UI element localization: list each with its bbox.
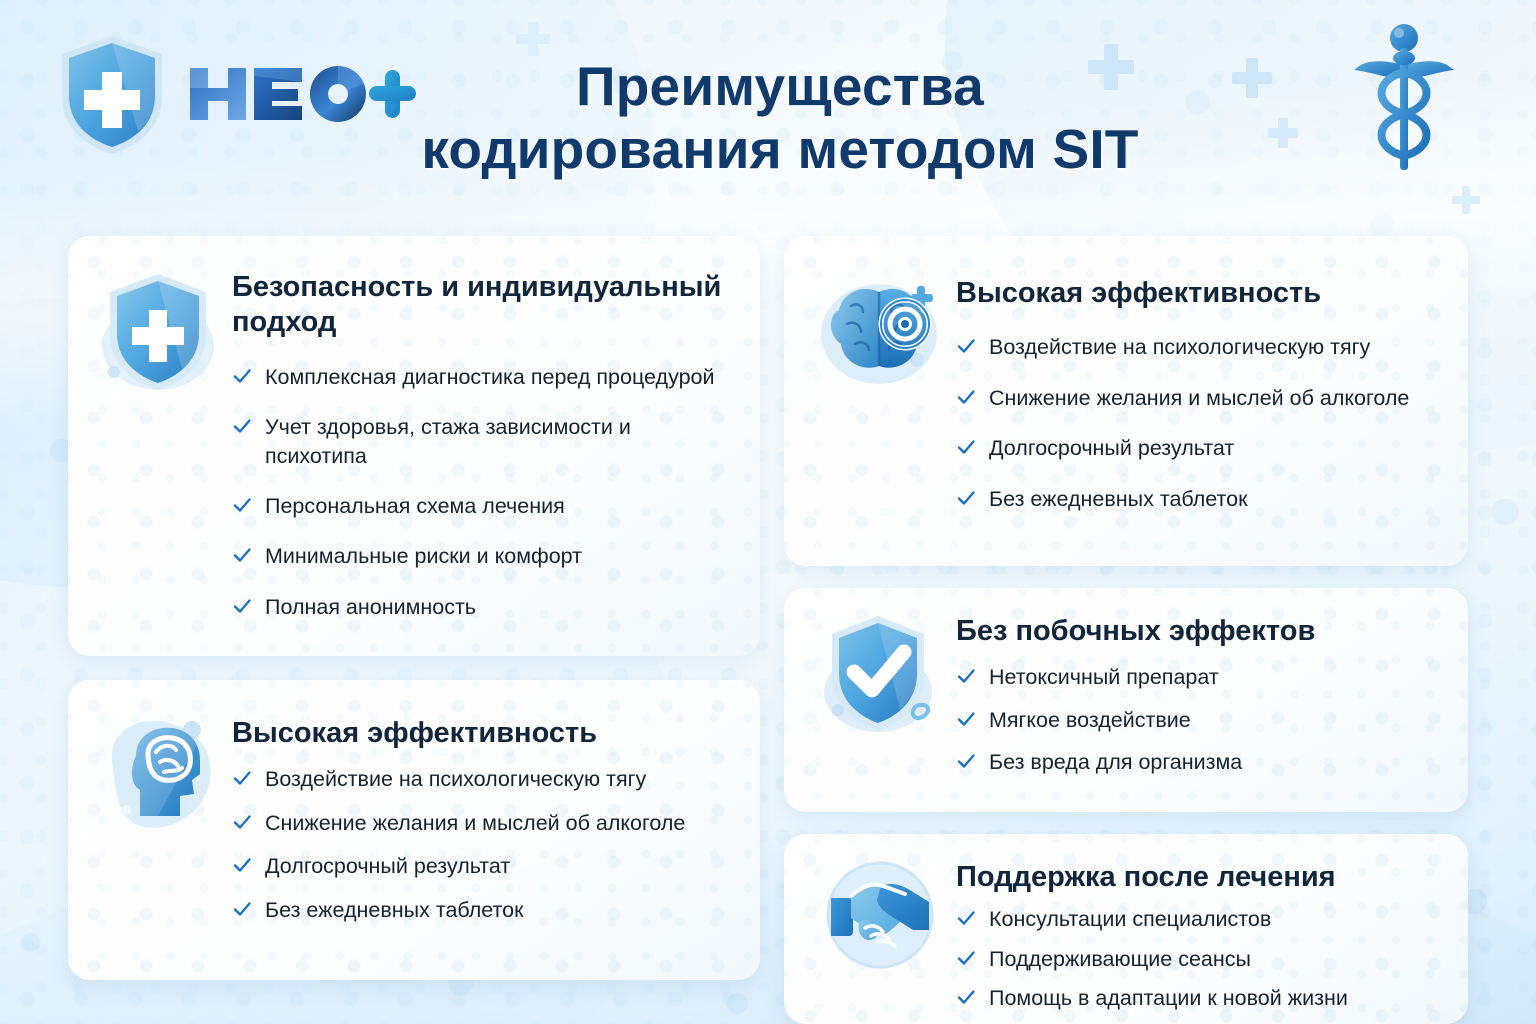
card-icon-wrapper: [810, 272, 950, 540]
caduceus-icon: [1350, 22, 1458, 172]
card-efficiency-left: Высокая эффективность Воздействие на пси…: [68, 680, 760, 980]
card-title: Высокая эффективность: [232, 716, 730, 751]
list-item: Учет здоровья, стажа зависимости и психо…: [232, 413, 730, 470]
check-icon: [232, 809, 252, 835]
bullet-list: Воздействие на психологическую тягу Сниж…: [956, 333, 1438, 513]
check-icon: [956, 485, 976, 511]
card-body: Высокая эффективность Воздействие на пси…: [232, 712, 730, 954]
check-icon: [956, 384, 976, 410]
list-item: Долгосрочный результат: [956, 434, 1438, 462]
list-item-text: Воздействие на психологическую тягу: [265, 765, 730, 793]
bullet-list: Комплексная диагностика перед процедурой…: [232, 363, 730, 621]
check-icon: [956, 434, 976, 460]
check-icon: [232, 363, 252, 389]
list-item-text: Мягкое воздействие: [989, 706, 1438, 734]
infographic-poster: Преимущества кодирования методом SIT: [0, 0, 1536, 1024]
check-icon: [956, 945, 976, 971]
check-icon: [232, 542, 252, 568]
card-icon-wrapper: [94, 266, 226, 630]
card-body: Высокая эффективность Воздействие на пси…: [956, 272, 1438, 540]
card-no-side-effects: Без побочных эффектов Нетоксичный препар…: [784, 588, 1468, 812]
check-icon: [232, 413, 252, 439]
page-title: Преимущества кодирования методом SIT: [340, 55, 1220, 180]
bullet-list: Консультации специалистов Поддерживающие…: [956, 905, 1438, 1012]
card-icon-wrapper: [810, 610, 950, 786]
check-icon: [956, 905, 976, 931]
list-item: Полная анонимность: [232, 593, 730, 621]
poster-header: Преимущества кодирования методом SIT: [0, 0, 1536, 212]
list-item-text: Без вреда для организма: [989, 748, 1438, 776]
check-icon: [232, 492, 252, 518]
list-item-text: Нетоксичный препарат: [989, 663, 1438, 691]
card-body: Без побочных эффектов Нетоксичный препар…: [956, 610, 1438, 786]
card-icon-wrapper: [94, 712, 226, 954]
card-support: Поддержка после лечения Консультации спе…: [784, 834, 1468, 1024]
list-item: Без вреда для организма: [956, 748, 1438, 776]
shield-cross-icon: [100, 266, 220, 406]
check-icon: [956, 663, 976, 689]
page-title-line-2: кодирования методом SIT: [340, 118, 1220, 181]
list-item-text: Полная анонимность: [265, 593, 730, 621]
list-item: Снижение желания и мыслей об алкоголе: [232, 809, 730, 837]
list-item: Минимальные риски и комфорт: [232, 542, 730, 570]
card-body: Поддержка после лечения Консультации спе…: [956, 856, 1438, 998]
list-item: Без ежедневных таблеток: [232, 896, 730, 924]
check-icon: [232, 896, 252, 922]
list-item: Помощь в адаптации к новой жизни: [956, 984, 1438, 1012]
shield-cross-icon: [52, 30, 172, 158]
check-icon: [956, 333, 976, 359]
list-item-text: Помощь в адаптации к новой жизни: [989, 984, 1438, 1012]
handshake-icon: [821, 856, 939, 974]
list-item-text: Снижение желания и мыслей об алкоголе: [989, 384, 1438, 412]
bullet-list: Воздействие на психологическую тягу Сниж…: [232, 765, 730, 924]
list-item: Персональная схема лечения: [232, 492, 730, 520]
list-item-text: Персональная схема лечения: [265, 492, 730, 520]
card-safety: Безопасность и индивидуальный подход Ком…: [68, 236, 760, 656]
right-column: Высокая эффективность Воздействие на пси…: [784, 236, 1468, 1024]
list-item: Консультации специалистов: [956, 905, 1438, 933]
head-brain-icon: [96, 712, 224, 840]
list-item: Снижение желания и мыслей об алкоголе: [956, 384, 1438, 412]
list-item: Воздействие на психологическую тягу: [232, 765, 730, 793]
list-item: Долгосрочный результат: [232, 852, 730, 880]
check-icon: [956, 984, 976, 1010]
check-icon: [956, 706, 976, 732]
list-item: Мягкое воздействие: [956, 706, 1438, 734]
list-item-text: Минимальные риски и комфорт: [265, 542, 730, 570]
page-title-line-1: Преимущества: [576, 55, 984, 117]
card-title: Безопасность и индивидуальный подход: [232, 270, 730, 341]
list-item: Поддерживающие сеансы: [956, 945, 1438, 973]
list-item-text: Комплексная диагностика перед процедурой: [265, 363, 730, 391]
list-item-text: Воздействие на психологическую тягу: [989, 333, 1438, 361]
list-item-text: Долгосрочный результат: [989, 434, 1438, 462]
card-title: Без побочных эффектов: [956, 614, 1438, 649]
list-item-text: Учет здоровья, стажа зависимости и психо…: [265, 413, 730, 470]
list-item: Без ежедневных таблеток: [956, 485, 1438, 513]
card-title: Поддержка после лечения: [956, 860, 1438, 895]
list-item: Нетоксичный препарат: [956, 663, 1438, 691]
card-title: Высокая эффективность: [956, 276, 1438, 311]
list-item-text: Консультации специалистов: [989, 905, 1438, 933]
left-column: Безопасность и индивидуальный подход Ком…: [68, 236, 760, 980]
list-item-text: Поддерживающие сеансы: [989, 945, 1438, 973]
list-item: Комплексная диагностика перед процедурой: [232, 363, 730, 391]
check-icon: [956, 748, 976, 774]
list-item-text: Долгосрочный результат: [265, 852, 730, 880]
list-item: Воздействие на психологическую тягу: [956, 333, 1438, 361]
check-icon: [232, 593, 252, 619]
check-icon: [232, 852, 252, 878]
shield-check-icon: [820, 610, 940, 740]
brain-target-icon: [817, 272, 943, 392]
bullet-list: Нетоксичный препарат Мягкое воздействие …: [956, 663, 1438, 776]
card-body: Безопасность и индивидуальный подход Ком…: [232, 266, 730, 630]
list-item-text: Без ежедневных таблеток: [989, 485, 1438, 513]
list-item-text: Снижение желания и мыслей об алкоголе: [265, 809, 730, 837]
card-efficiency-right: Высокая эффективность Воздействие на пси…: [784, 236, 1468, 566]
check-icon: [232, 765, 252, 791]
card-icon-wrapper: [810, 856, 950, 998]
list-item-text: Без ежедневных таблеток: [265, 896, 730, 924]
